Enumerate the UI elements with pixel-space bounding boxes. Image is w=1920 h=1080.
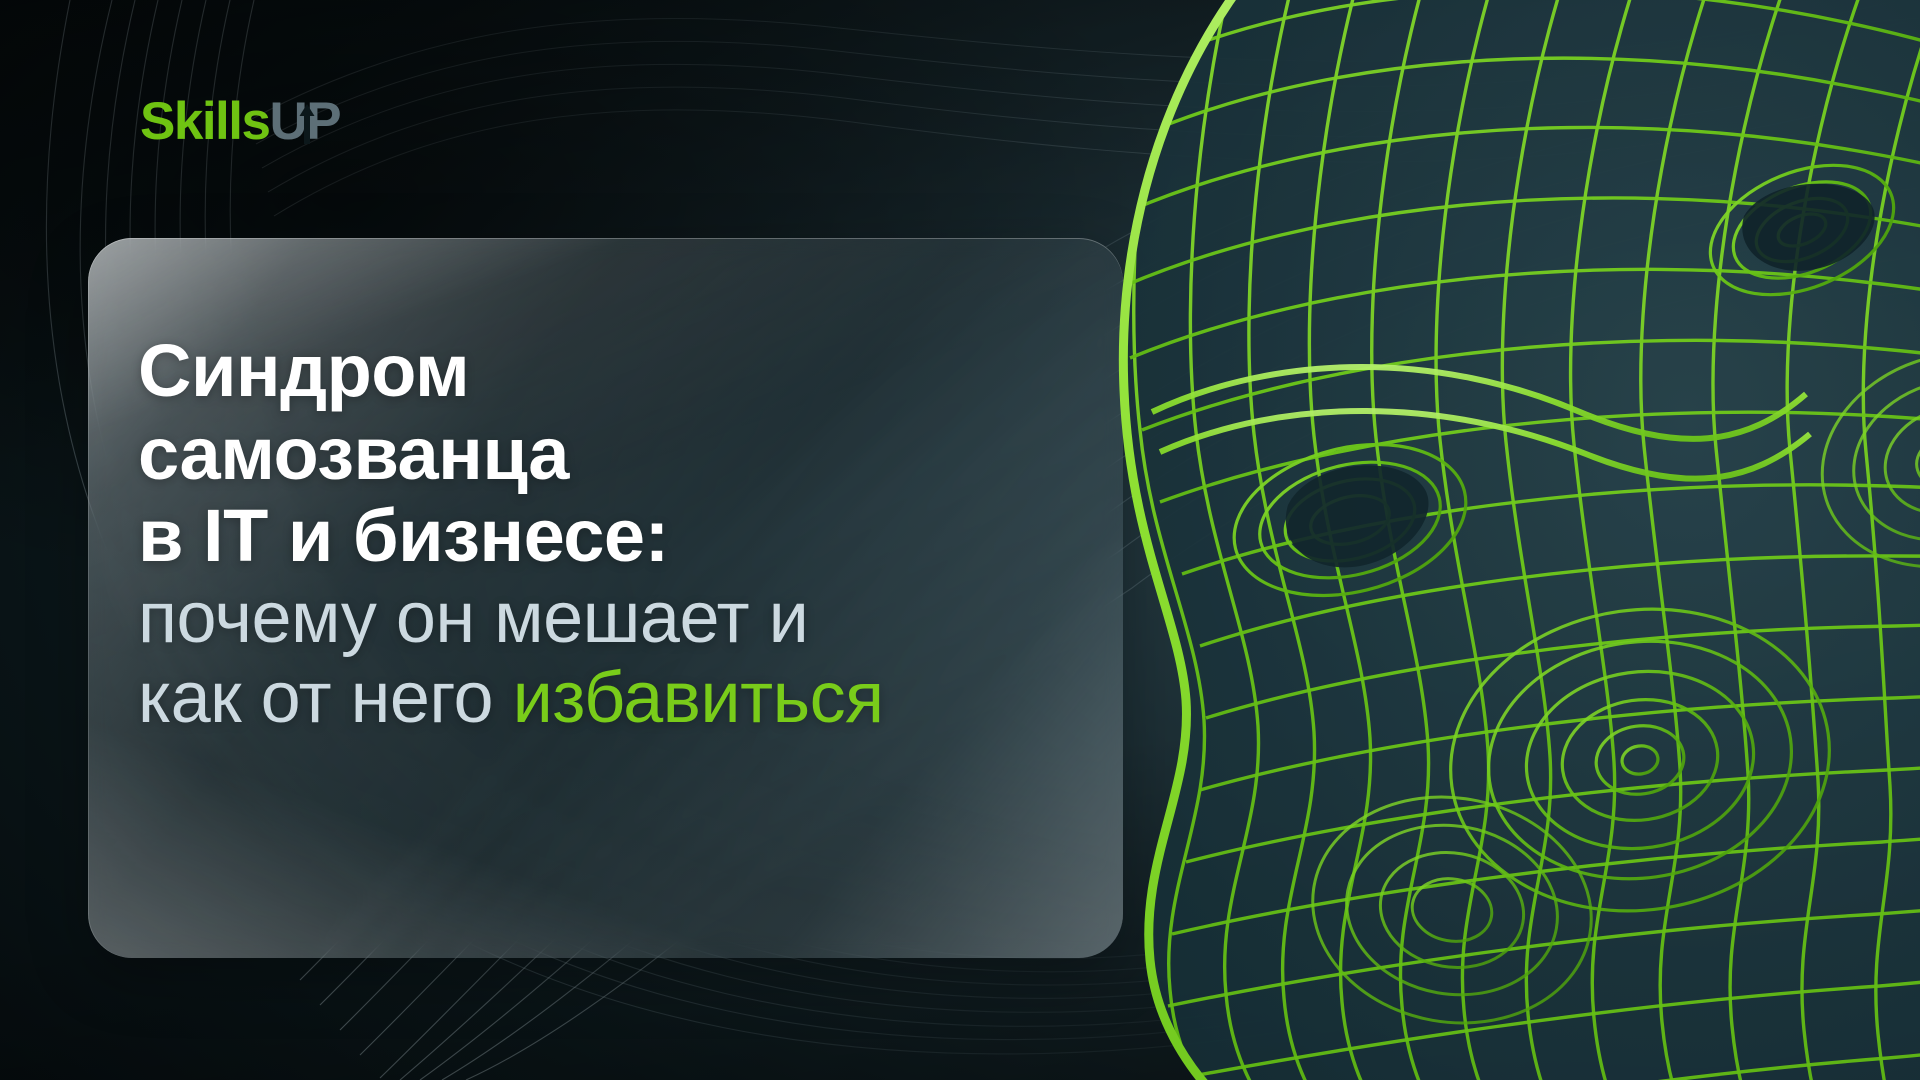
headline-line-2: самозванца	[138, 413, 1098, 496]
subheadline-line-2: как от него избавиться	[138, 658, 1098, 738]
logo-skills-text: Skills	[140, 95, 269, 148]
brand-logo[interactable]: Skills UP	[140, 95, 340, 148]
subheadline-line-2-prefix: как от него	[138, 658, 513, 738]
subheadline-accent: избавиться	[513, 658, 884, 738]
headline-line-3: в IT и бизнесе:	[138, 495, 1098, 578]
subheadline-line-1: почему он мешает и	[138, 578, 1098, 658]
banner-canvas: Skills UP	[0, 0, 1920, 1080]
wireframe-face-graphic	[1020, 0, 1920, 1080]
logo-up-text: UP	[269, 95, 340, 148]
headline-block: Синдром самозванца в IT и бизнесе: почем…	[138, 330, 1098, 738]
headline-line-1: Синдром	[138, 330, 1098, 413]
arrow-up-icon	[299, 104, 315, 144]
